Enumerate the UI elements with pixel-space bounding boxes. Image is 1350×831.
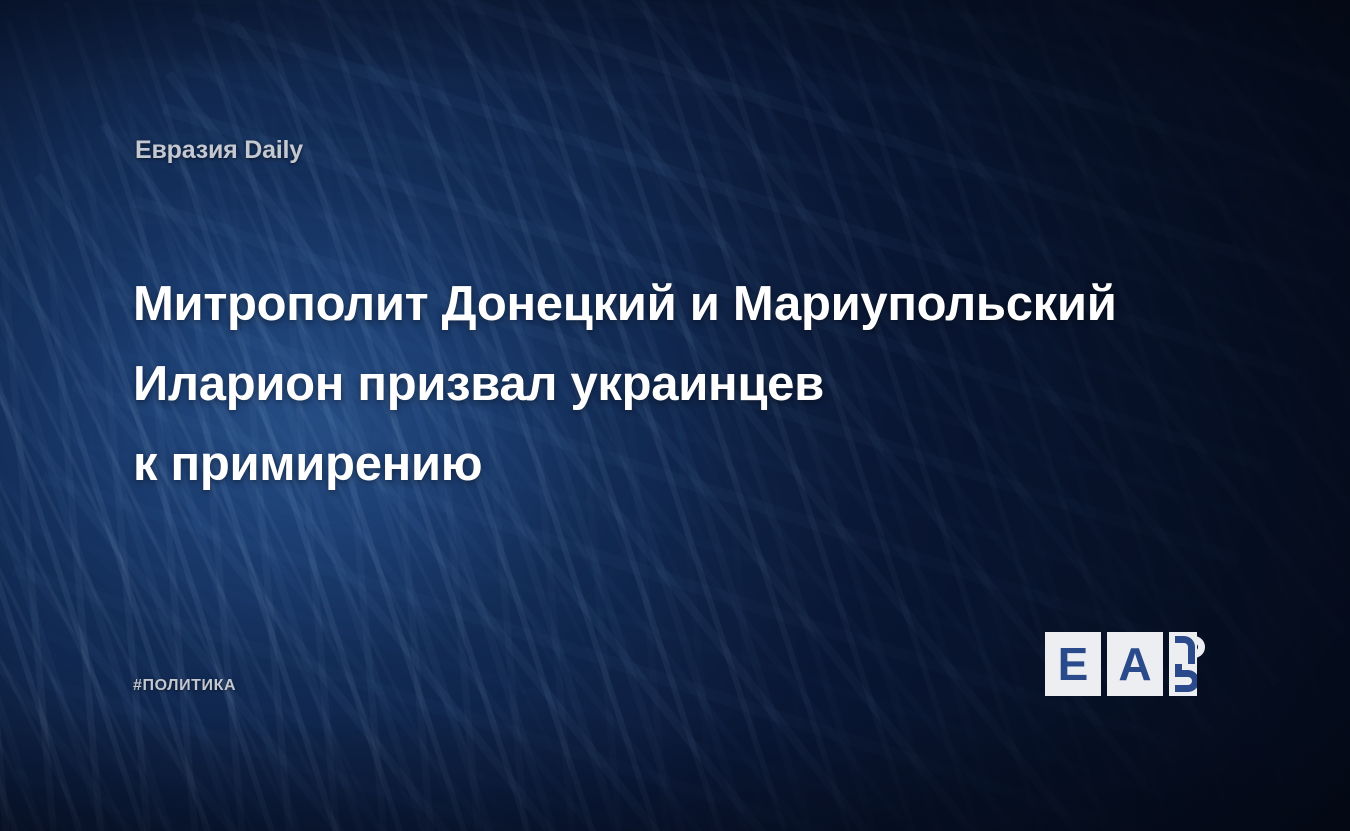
logo-tile-d-quad <box>1169 632 1225 696</box>
page-title: Митрополит Донецкий и Мариупольский Илар… <box>133 264 1273 504</box>
logo-tile-e: E <box>1045 632 1101 696</box>
eadaily-logo[interactable]: E A <box>1045 632 1225 696</box>
headline-line-2: Иларион призвал украинцев <box>133 344 1273 424</box>
d-partial-icon <box>1197 632 1213 664</box>
brand-name: Евразия Daily <box>135 136 303 165</box>
logo-quad-top-left <box>1169 632 1197 664</box>
d-partial-icon <box>1169 632 1197 664</box>
card-content: Евразия Daily Митрополит Донецкий и Мари… <box>0 0 1350 831</box>
d-partial-icon <box>1169 664 1197 692</box>
logo-tile-a: A <box>1107 632 1163 696</box>
category-tag[interactable]: #ПОЛИТИКА <box>133 677 236 695</box>
headline-line-3: к примирению <box>133 424 1273 504</box>
logo-letter-a: A <box>1107 632 1163 696</box>
news-share-card: Евразия Daily Митрополит Донецкий и Мари… <box>0 0 1350 831</box>
logo-letter-e: E <box>1045 632 1101 696</box>
logo-quad-bottom-right <box>1197 664 1225 696</box>
d-partial-icon <box>1197 664 1211 692</box>
headline-line-1: Митрополит Донецкий и Мариупольский <box>133 264 1273 344</box>
logo-quad-bottom-left <box>1169 664 1197 696</box>
logo-quad-top-right <box>1197 632 1225 664</box>
